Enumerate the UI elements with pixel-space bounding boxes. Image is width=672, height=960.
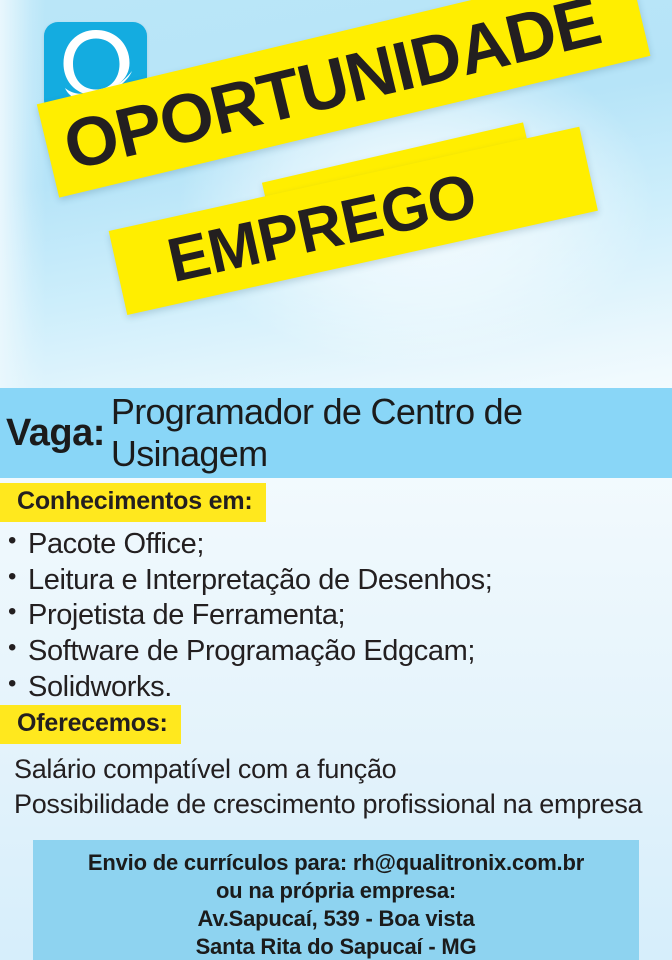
list-item: Solidworks. bbox=[8, 670, 658, 706]
contact-city-line: Santa Rita do Sapucaí - MG bbox=[43, 933, 629, 960]
list-item: Pacote Office; bbox=[8, 527, 658, 563]
offers-list: Salário compatível com a função Possibil… bbox=[14, 752, 664, 821]
skills-list: Pacote Office; Leitura e Interpretação d… bbox=[8, 527, 658, 705]
vaga-title: Programador de Centro de Usinagem bbox=[111, 391, 672, 475]
list-item: Possibilidade de crescimento profissiona… bbox=[14, 787, 664, 822]
contact-address-line: Av.Sapucaí, 539 - Boa vista bbox=[43, 905, 629, 933]
contact-box: Envio de currículos para: rh@qualitronix… bbox=[33, 840, 639, 960]
contact-email-line: Envio de currículos para: rh@qualitronix… bbox=[43, 849, 629, 877]
list-item: Leitura e Interpretação de Desenhos; bbox=[8, 563, 658, 599]
list-item: Projetista de Ferramenta; bbox=[8, 598, 658, 634]
list-item: Salário compatível com a função bbox=[14, 752, 664, 787]
skills-heading: Conhecimentos em: bbox=[0, 483, 266, 522]
vaga-label: Vaga: bbox=[6, 412, 105, 455]
offers-heading: Oferecemos: bbox=[0, 705, 181, 744]
vaga-band: Vaga: Programador de Centro de Usinagem bbox=[0, 388, 672, 478]
list-item: Software de Programação Edgcam; bbox=[8, 634, 658, 670]
job-posting-poster: Qualitronix OPORTUNIDADE DE EMPREGO Vaga… bbox=[0, 0, 672, 960]
contact-inperson-line: ou na própria empresa: bbox=[43, 877, 629, 905]
